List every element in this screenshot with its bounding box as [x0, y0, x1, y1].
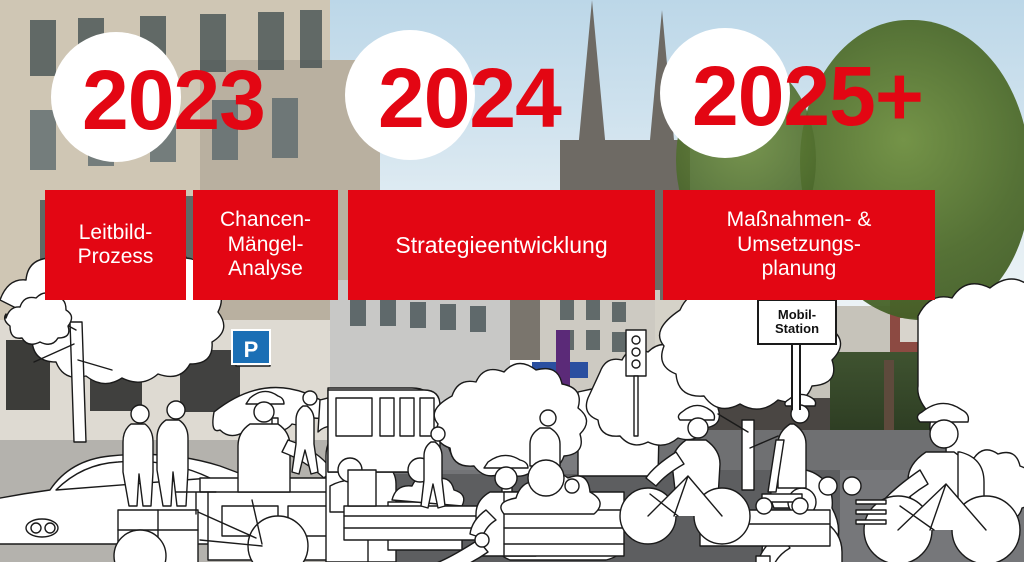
window — [470, 306, 486, 332]
window — [586, 300, 600, 320]
cathedral-spire-left — [578, 0, 606, 150]
sidewalk-left — [0, 440, 330, 562]
phase-label: Chancen- Mängel- Analyse — [220, 208, 311, 281]
phase-band-chancen-maengel-analyse[interactable]: Chancen- Mängel- Analyse — [193, 190, 338, 300]
mobil-station-label: Mobil- Station — [775, 308, 819, 337]
phase-label: Strategieentwicklung — [395, 232, 607, 259]
mobil-station-sign: Mobil- Station — [757, 299, 837, 345]
poster-root: P Mobil- Station 2023 2024 2025+ Leitbil… — [0, 0, 1024, 562]
window — [702, 318, 716, 338]
window — [410, 302, 426, 328]
mobil-station-post — [791, 340, 801, 410]
crosswalk-area — [360, 440, 600, 474]
window — [300, 10, 322, 68]
window — [380, 300, 396, 326]
phase-label: Maßnahmen- & Umsetzungs- planung — [727, 208, 872, 281]
phase-band-massnahmen-umsetzungsplanung[interactable]: Maßnahmen- & Umsetzungs- planung — [663, 190, 935, 300]
window — [560, 300, 574, 320]
window — [180, 350, 240, 412]
window — [6, 340, 50, 410]
phase-label: Leitbild- Prozess — [78, 221, 154, 270]
window — [30, 110, 56, 170]
window — [440, 304, 456, 330]
window — [586, 330, 600, 350]
phase-band-strategieentwicklung[interactable]: Strategieentwicklung — [348, 190, 655, 300]
window — [272, 98, 298, 158]
year-label-2023: 2023 — [82, 58, 265, 142]
bus-far — [380, 400, 450, 436]
phase-band-leitbild-prozess[interactable]: Leitbild- Prozess — [45, 190, 186, 300]
window — [350, 300, 366, 326]
window — [676, 318, 690, 338]
year-label-2024: 2024 — [378, 56, 561, 140]
sign-purple — [556, 330, 570, 390]
bike-lane — [840, 470, 1024, 562]
window — [900, 318, 918, 342]
window — [612, 332, 626, 352]
year-label-2025: 2025+ — [692, 54, 923, 138]
window — [612, 302, 626, 322]
awning-blue — [612, 395, 650, 405]
window — [90, 345, 142, 411]
window — [30, 20, 56, 76]
